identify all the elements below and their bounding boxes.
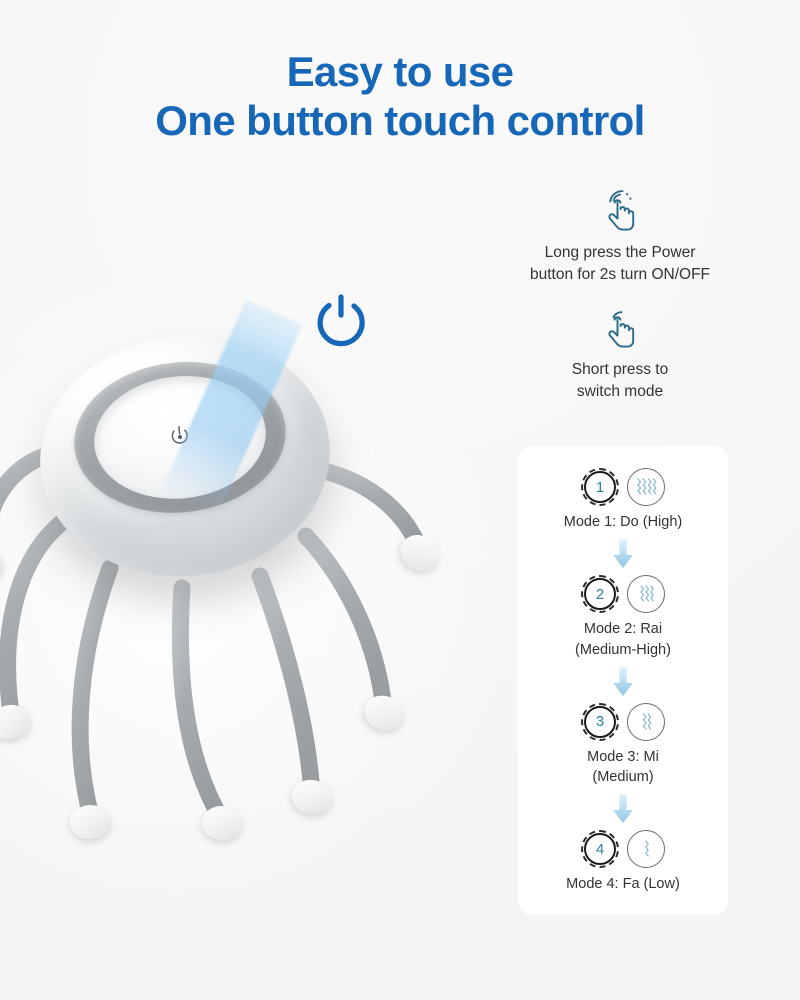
arrow-down-icon: [612, 794, 634, 824]
vibration-level-icon-4: [627, 830, 665, 868]
hint-short-press-text: Short press to switch mode: [490, 359, 750, 404]
vibration-level-icon-2: [627, 575, 665, 613]
mode-number-badge-1: 1: [581, 468, 619, 506]
mode-number-badge-3: 3: [581, 703, 619, 741]
mode-item-2[interactable]: 2 Mode 2: Rai (Medium-High): [528, 575, 718, 660]
hint-long-press: Long press the Power button for 2s turn …: [490, 188, 750, 287]
mode-item-3[interactable]: 3 Mode 3: Mi (Medium): [528, 703, 718, 788]
press-instructions: Long press the Power button for 2s turn …: [490, 188, 750, 418]
mode-label-2: Mode 2: Rai (Medium-High): [528, 619, 718, 660]
mode-1-icons: 1: [528, 468, 718, 506]
mode-number-badge-4: 4: [581, 830, 619, 868]
headline-primary: Easy to use: [0, 48, 800, 97]
mode-item-4[interactable]: 4 Mode 4: Fa (Low): [528, 830, 718, 894]
arrow-down-icon: [612, 667, 634, 697]
mode-4-icons: 4: [528, 830, 718, 868]
mode-number-2: 2: [596, 587, 604, 602]
mode-number-3: 3: [596, 714, 604, 729]
vibration-level-icon-3: [627, 703, 665, 741]
short-press-hand-icon: [597, 305, 643, 351]
mode-label-1: Mode 1: Do (High): [528, 512, 718, 532]
vibration-level-icon-1: [627, 468, 665, 506]
hint-short-press: Short press to switch mode: [490, 305, 750, 404]
mode-2-icons: 2: [528, 575, 718, 613]
page-title: Easy to use One button touch control: [0, 48, 800, 145]
mode-number-badge-2: 2: [581, 575, 619, 613]
mode-number-4: 4: [596, 842, 604, 857]
headline-secondary: One button touch control: [0, 97, 800, 146]
long-press-hand-icon: [597, 188, 643, 234]
mode-label-3: Mode 3: Mi (Medium): [528, 747, 718, 788]
power-icon: [312, 292, 370, 350]
mode-list-card: 1 Mode 1: Do (High): [518, 446, 728, 915]
mode-item-1[interactable]: 1 Mode 1: Do (High): [528, 468, 718, 532]
mode-number-1: 1: [596, 480, 604, 495]
mode-3-icons: 3: [528, 703, 718, 741]
mode-label-4: Mode 4: Fa (Low): [528, 874, 718, 894]
arrow-down-icon: [612, 539, 634, 569]
hint-long-press-text: Long press the Power button for 2s turn …: [490, 242, 750, 287]
product-image-scalp-massager: [0, 300, 440, 860]
